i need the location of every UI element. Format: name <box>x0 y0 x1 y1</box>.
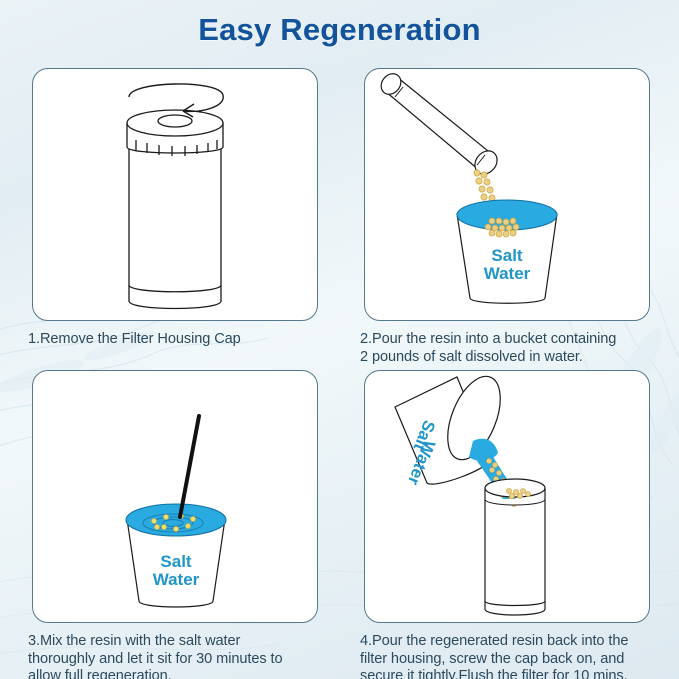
bucket-label-salt: Salt <box>160 552 192 571</box>
page-title: Easy Regeneration <box>0 12 679 48</box>
bucket-pouring-back-into-filter-housing-illustration: Salt Water <box>365 371 649 622</box>
step-panel-3: Salt Water <box>32 370 318 623</box>
step-caption-3: 3.Mix the resin with the salt water thor… <box>28 633 333 679</box>
step-caption-2: 2.Pour the resin into a bucket containin… <box>360 331 670 366</box>
bucket-label-salt: Salt <box>491 246 523 265</box>
step-caption-4: 4.Pour the regenerated resin back into t… <box>360 633 672 679</box>
filter-housing-with-rotating-cap-illustration <box>33 69 317 320</box>
step-panel-2: Salt Water <box>364 68 650 321</box>
bucket-label-water: Water <box>153 570 200 589</box>
bucket-label-water: Water <box>484 264 531 283</box>
step-caption-1: 1.Remove the Filter Housing Cap <box>28 331 328 349</box>
stirring-rod <box>180 416 199 517</box>
step-panel-1 <box>32 68 318 321</box>
step-panel-4: Salt Water <box>364 370 650 623</box>
infographic-poster: Easy Regeneration <box>0 0 679 679</box>
resin-beads-in-water <box>485 218 519 237</box>
bucket-with-stirring-rod-illustration: Salt Water <box>33 371 317 622</box>
cartridge-pouring-resin-into-bucket-illustration: Salt Water <box>365 69 649 320</box>
